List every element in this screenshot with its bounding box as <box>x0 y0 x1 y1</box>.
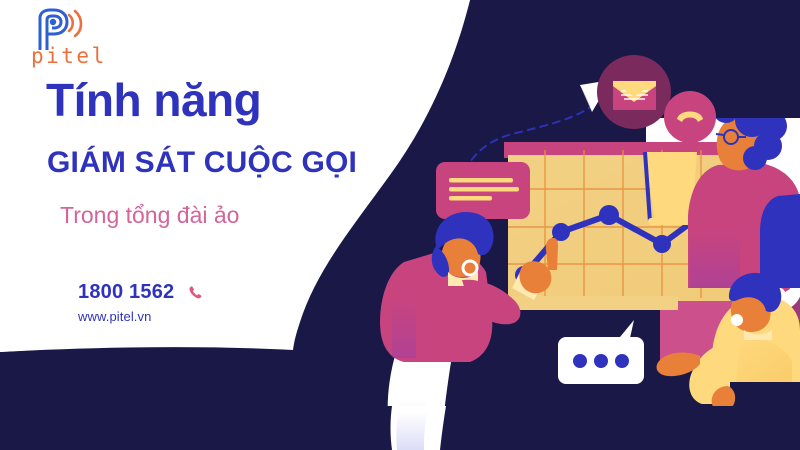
navy-foreground-strip <box>288 406 800 450</box>
chart-point <box>653 235 671 253</box>
page-subtitle: GIÁM SÁT CUỘC GỌI <box>47 147 357 179</box>
phone-number: 1800 1562 <box>78 281 174 304</box>
navy-bottom-band <box>0 346 300 450</box>
chart-point <box>599 205 619 225</box>
brand-logo[interactable]: pitel <box>28 8 138 70</box>
page-title: Tính năng <box>46 76 261 124</box>
contact-phone[interactable]: 1800 1562 <box>78 281 203 304</box>
brand-wordmark: pitel <box>31 46 107 67</box>
page-tagline: Trong tổng đài ảo <box>60 203 239 228</box>
phone-badge-top-icon <box>664 91 716 143</box>
typing-dot <box>615 354 629 368</box>
typing-dot <box>594 354 608 368</box>
typing-dot <box>573 354 587 368</box>
email-badge-icon <box>597 55 671 129</box>
phone-handset-icon <box>188 285 203 300</box>
banner-root: pitel Tính năng GIÁM SÁT CUỘC GỌI Trong … <box>0 0 800 450</box>
website-url[interactable]: www.pitel.vn <box>78 309 151 324</box>
